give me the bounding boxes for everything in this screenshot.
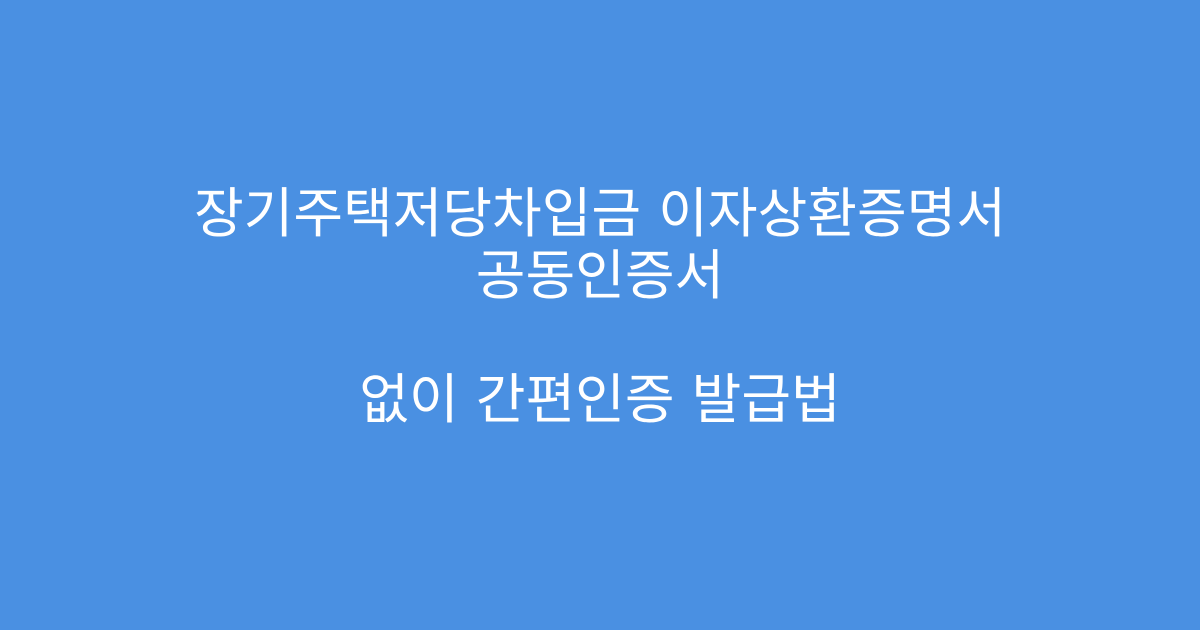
title-block: 장기주택저당차입금 이자상환증명서 공동인증서 없이 간편인증 발급법 xyxy=(70,121,1130,493)
page-title: 장기주택저당차입금 이자상환증명서 공동인증서 없이 간편인증 발급법 xyxy=(70,121,1130,493)
title-line-2: 없이 간편인증 발급법 xyxy=(70,369,1130,431)
thumbnail-card: 장기주택저당차입금 이자상환증명서 공동인증서 없이 간편인증 발급법 xyxy=(0,0,1200,630)
title-line-1: 장기주택저당차입금 이자상환증명서 공동인증서 xyxy=(70,183,1130,307)
